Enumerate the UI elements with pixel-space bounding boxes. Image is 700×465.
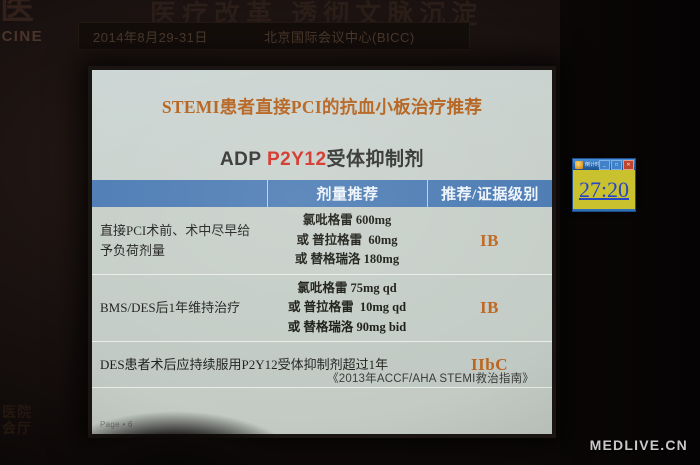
right-dark-wall [560,0,700,465]
close-icon[interactable]: ✕ [623,160,634,170]
timer-display-area: 27:20 [573,170,635,209]
dose-line: 或 替格瑞洛 90mg bid [269,318,425,337]
dose-line: 氯吡格雷 600mg [269,211,425,230]
cell-indication: BMS/DES后1年维持治疗 [92,294,267,322]
header-cell-dose: 剂量推荐 [267,179,427,208]
watermark: MEDLIVE.CN [590,437,688,453]
cell-grade: IB [427,227,552,255]
timer-value: 27:20 [579,177,629,203]
banner-date: 2014年8月29-31日 [93,27,208,46]
side-signage-line2: 会厅 [2,420,32,436]
subtitle-prefix: ADP [220,149,267,170]
banner-venue: 北京国际会议中心(BICC) [264,27,415,46]
table-row: BMS/DES后1年维持治疗 氯吡格雷 75mg qd 或 普拉格雷 10mg … [92,275,552,342]
maximize-icon[interactable]: □ [611,160,622,170]
conference-photo-stage: 医 ICINE 医疗改革 透彻文脉沉淀 2014年8月29-31日 北京国际会议… [0,0,700,465]
cell-dose: 氯吡格雷 600mg 或 普拉格雷 60mg 或 替格瑞洛 180mg [267,207,427,273]
window-controls: _ □ ✕ [599,160,635,170]
recommendation-table: 剂量推荐 推荐/证据级别 直接PCI术前、术中尽早给予负荷剂量 氯吡格雷 600… [92,180,552,388]
presentation-slide: STEMI患者直接PCI的抗血小板治疗推荐 ADP P2Y12受体抑制剂 剂量推… [92,70,552,434]
slide-title: STEMI患者直接PCI的抗血小板治疗推荐 [92,94,552,119]
dose-line: 或 替格瑞洛 180mg [269,250,425,269]
dose-line: 或 普拉格雷 10mg qd [269,298,425,317]
header-cell-indication [92,190,267,198]
subtitle-highlight: P2Y12 [267,149,327,170]
banner-info-bar: 2014年8月29-31日 北京国际会议中心(BICC) [78,22,470,50]
timer-titlebar[interactable]: 倒计时 _ □ ✕ [573,159,635,170]
dose-line: 或 普拉格雷 60mg [269,231,425,250]
side-signage-line1: 医院 [2,404,32,420]
projection-screen: STEMI患者直接PCI的抗血小板治疗推荐 ADP P2Y12受体抑制剂 剂量推… [88,66,556,438]
cell-grade: IB [427,294,552,322]
cell-indication: 直接PCI术前、术中尽早给予负荷剂量 [92,217,267,264]
header-cell-grade: 推荐/证据级别 [427,179,552,208]
side-signage: 医院 会厅 [2,404,32,436]
table-row: 直接PCI术前、术中尽早给予负荷剂量 氯吡格雷 600mg 或 普拉格雷 60m… [92,207,552,275]
cell-dose: 氯吡格雷 75mg qd 或 普拉格雷 10mg qd 或 替格瑞洛 90mg … [267,275,427,341]
countdown-timer-window[interactable]: 倒计时 _ □ ✕ 27:20 [572,158,636,212]
slide-citation: 《2013年ACCF/AHA STEMI救治指南》 [327,370,534,386]
timer-title: 倒计时 [583,161,599,168]
logo-wordmark: ICINE [0,28,43,45]
subtitle-suffix: 受体抑制剂 [327,149,425,170]
clock-icon [575,161,583,169]
minimize-icon[interactable]: _ [599,160,610,170]
table-header-row: 剂量推荐 推荐/证据级别 [92,180,552,207]
dose-line: 氯吡格雷 75mg qd [269,279,425,298]
logo-mark: 医 [0,0,35,26]
slide-subtitle: ADP P2Y12受体抑制剂 [92,144,552,171]
